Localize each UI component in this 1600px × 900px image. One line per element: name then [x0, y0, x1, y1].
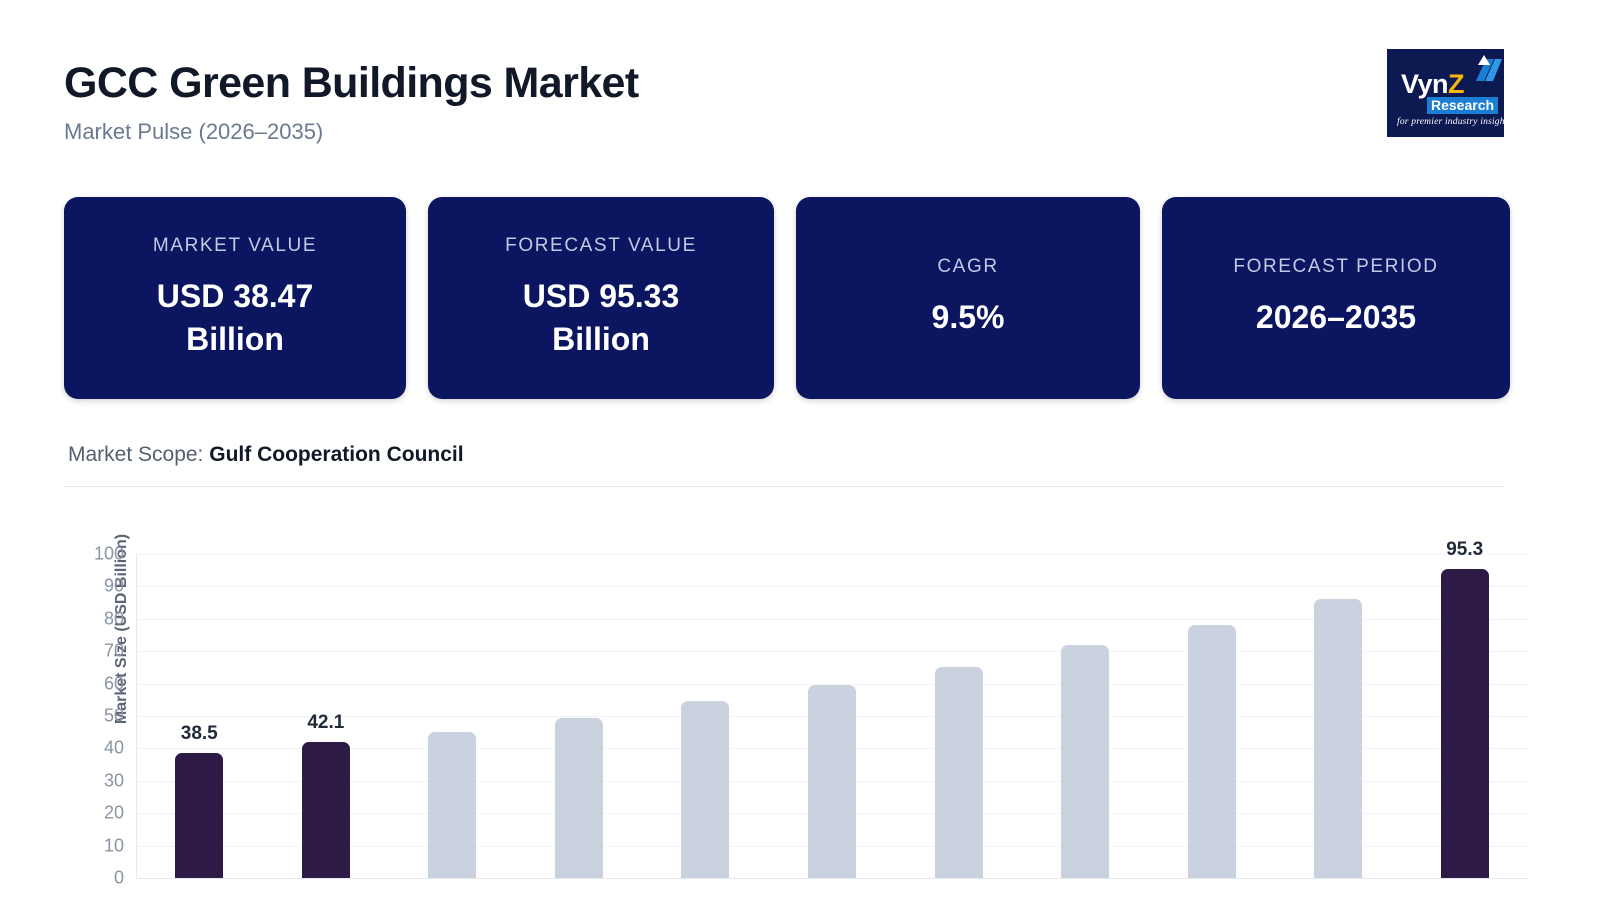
y-tick-label: 100 — [94, 544, 124, 565]
header: GCC Green Buildings Market Market Pulse … — [64, 60, 639, 145]
bar[interactable] — [1314, 599, 1362, 878]
bar-slot — [1148, 554, 1275, 878]
y-tick-label: 10 — [104, 835, 124, 856]
y-tick-label: 20 — [104, 803, 124, 824]
bar-slot — [769, 554, 896, 878]
y-tick-label: 70 — [104, 641, 124, 662]
kpi-value: 2026–2035 — [1256, 296, 1416, 339]
bar[interactable] — [1441, 569, 1489, 878]
logo-subword: Research — [1427, 97, 1498, 114]
page-subtitle: Market Pulse (2026–2035) — [64, 119, 639, 145]
bar[interactable] — [808, 685, 856, 878]
bar[interactable] — [681, 701, 729, 878]
bar[interactable] — [302, 742, 350, 878]
kpi-label: MARKET VALUE — [153, 235, 317, 257]
bar[interactable] — [1061, 645, 1109, 878]
bar[interactable] — [1188, 625, 1236, 878]
bar-slot: 42.1 — [263, 554, 390, 878]
page-title: GCC Green Buildings Market — [64, 60, 639, 107]
kpi-card-market-value: MARKET VALUE USD 38.47 Billion — [64, 197, 406, 399]
bar[interactable] — [175, 753, 223, 878]
kpi-label: FORECAST VALUE — [505, 235, 697, 257]
bar-value-label: 38.5 — [181, 723, 218, 745]
y-tick-label: 50 — [104, 706, 124, 727]
market-scope-value: Gulf Cooperation Council — [209, 443, 463, 466]
logo-tagline: for premier industry insights — [1397, 117, 1504, 127]
kpi-card-row: MARKET VALUE USD 38.47 Billion FORECAST … — [64, 197, 1504, 399]
bar[interactable] — [935, 667, 983, 878]
y-tick-label: 0 — [114, 868, 124, 889]
bar[interactable] — [555, 718, 603, 878]
kpi-value: USD 95.33 Billion — [496, 275, 706, 361]
kpi-value: USD 38.47 Billion — [130, 275, 340, 361]
bar-slot: 38.5 — [136, 554, 263, 878]
bar-value-label: 95.3 — [1446, 539, 1483, 561]
section-divider — [64, 486, 1504, 487]
y-tick-label: 80 — [104, 608, 124, 629]
bar-series: 38.542.195.3 — [136, 554, 1528, 878]
logo-wordmark: VynZ — [1401, 71, 1464, 98]
bar-value-label: 42.1 — [307, 712, 344, 734]
bar-slot — [895, 554, 1022, 878]
market-size-bar-chart: Market Size (USD Billion) 10090807060504… — [64, 500, 1534, 900]
y-tick-label: 40 — [104, 738, 124, 759]
bar-slot — [389, 554, 516, 878]
market-scope-label: Market Scope: — [68, 443, 203, 466]
market-scope: Market Scope: Gulf Cooperation Council — [68, 443, 464, 467]
infographic-page: GCC Green Buildings Market Market Pulse … — [0, 0, 1600, 900]
bar-slot — [516, 554, 643, 878]
kpi-card-forecast-period: FORECAST PERIOD 2026–2035 — [1162, 197, 1510, 399]
kpi-card-forecast-value: FORECAST VALUE USD 95.33 Billion — [428, 197, 774, 399]
bar-slot: 95.3 — [1401, 554, 1528, 878]
vynz-research-logo: VynZ Research for premier industry insig… — [1387, 49, 1504, 137]
bar-slot — [642, 554, 769, 878]
y-tick-label: 60 — [104, 673, 124, 694]
kpi-label: CAGR — [937, 256, 998, 278]
logo-word-main: Vyn — [1401, 69, 1448, 99]
kpi-label: FORECAST PERIOD — [1233, 256, 1438, 278]
gridline — [136, 878, 1528, 879]
logo-word-accent: Z — [1448, 69, 1464, 99]
y-tick-label: 90 — [104, 576, 124, 597]
bar-slot — [1022, 554, 1149, 878]
kpi-value: 9.5% — [932, 296, 1005, 339]
kpi-card-cagr: CAGR 9.5% — [796, 197, 1140, 399]
plot-area: 1009080706050403020100 38.542.195.3 — [136, 554, 1528, 878]
y-tick-label: 30 — [104, 770, 124, 791]
bar-slot — [1275, 554, 1402, 878]
bar[interactable] — [428, 732, 476, 878]
